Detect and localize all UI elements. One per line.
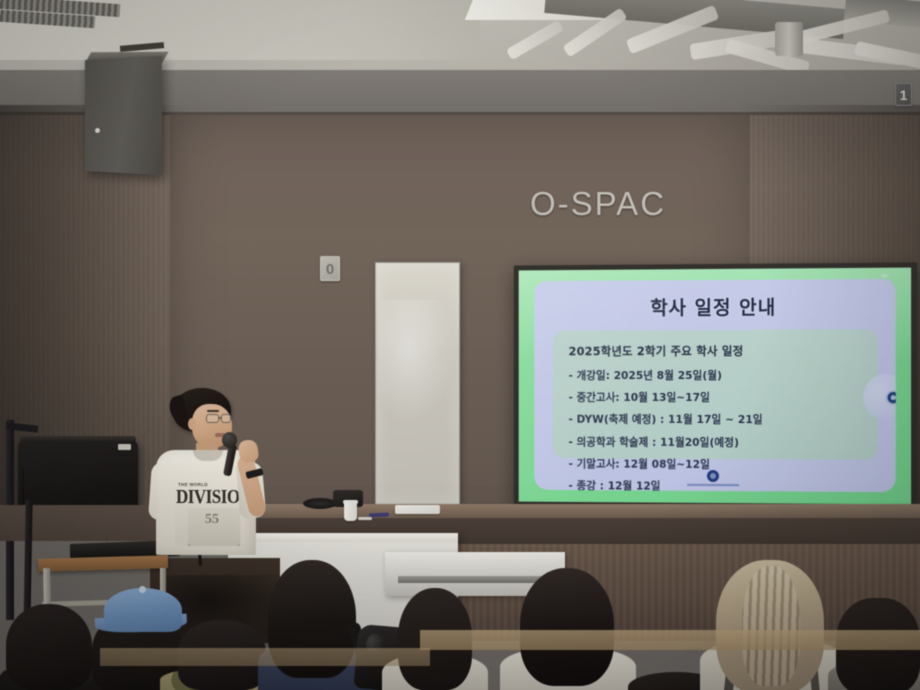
floor-edge — [420, 630, 920, 650]
slide-accent-dot-right-icon — [888, 392, 896, 403]
ceiling-fan-hub — [775, 22, 803, 56]
audience-member-head — [6, 604, 92, 690]
white-notepad — [395, 505, 440, 514]
slide-body-card: 2025학년도 2학기 주요 학사 일정 - 개강일: 2025년 8월 25일… — [553, 329, 878, 459]
presenter-ear — [188, 418, 196, 430]
slide-heading: 2025학년도 2학기 주요 학사 일정 — [569, 343, 862, 360]
baseball-cap — [104, 588, 182, 632]
glasses-lens-right — [221, 414, 231, 423]
screen-speck — [880, 274, 888, 278]
audience-member-hair-strands — [742, 566, 800, 686]
wall-plate-left: 0 — [320, 256, 340, 281]
microphone-head — [222, 432, 237, 448]
slide-canvas: 학사 일정 안내 2025학년도 2학기 주요 학사 일정 - 개강일: 202… — [519, 268, 911, 505]
wall-sign-ospac: O-SPAC — [498, 183, 698, 225]
slide-bullet: - 의공학과 학술제 : 11월20일(예정) — [569, 434, 862, 450]
projection-screen[interactable]: 학사 일정 안내 2025학년도 2학기 주요 학사 일정 - 개강일: 202… — [514, 262, 917, 510]
slide-logo-rule — [687, 484, 739, 486]
podium-shelf-slot — [398, 576, 556, 583]
slide-bullet: - DYW(축제 예정) : 11월 17일 ~ 21일 — [569, 412, 862, 428]
floor-edge-secondary — [100, 648, 430, 666]
slide-bullet: - 개강일: 2025년 8월 25일(월) — [569, 368, 862, 383]
wood-table-top — [38, 555, 168, 572]
pen-secondary — [358, 517, 372, 520]
wall-light-panel-glow — [378, 300, 456, 420]
monitor-label — [118, 444, 131, 450]
paper-cup — [344, 502, 357, 521]
audience-member-head — [520, 568, 614, 686]
slide-logo-icon — [707, 470, 719, 482]
slide-title: 학사 일정 안내 — [534, 292, 895, 321]
tshirt-artwork-number: 55 — [205, 512, 219, 528]
cap-button — [139, 586, 146, 593]
wall-speaker — [85, 56, 162, 175]
slide-bullet: - 중간고사: 10월 13일~17일 — [569, 390, 862, 405]
lecture-hall-photo: O-SPAC 0 1 학사 일정 안내 2025학년도 2학기 주요 학사 일정… — [0, 0, 920, 690]
cable-coil — [303, 498, 337, 509]
speaker-led-icon — [95, 128, 100, 133]
podium-top-lip — [228, 533, 458, 542]
wall-plate-right: 1 — [895, 83, 912, 106]
slide-card: 학사 일정 안내 2025학년도 2학기 주요 학사 일정 - 개강일: 202… — [534, 279, 895, 492]
presenter-eyebrow — [207, 410, 219, 412]
